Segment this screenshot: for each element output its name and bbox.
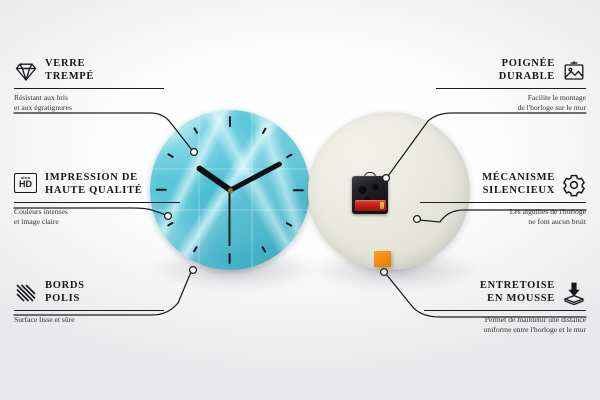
feature-description: Les aiguilles de l'horloge ne font aucun… [418, 207, 586, 226]
feature-title: IMPRESSION DE HAUTE QUALITÉ [45, 172, 143, 197]
feature-poignee-durable: POIGNÉE DURABLE Facilite le montage de l… [434, 58, 586, 112]
product-feature-infographic: VERRE TREMPÉ Résistant aux bris et aux é… [0, 0, 600, 400]
feature-divider [14, 310, 164, 311]
feature-title: ENTRETOISE EN MOUSSE [480, 280, 555, 305]
feature-description: Facilite le montage de l'horloge sur le … [434, 93, 586, 112]
feature-verre-trempe: VERRE TREMPÉ Résistant aux bris et aux é… [14, 58, 166, 112]
feature-description: Surface lisse et sûre [14, 315, 166, 325]
feature-divider [424, 310, 586, 311]
down-arrow-pad-icon [562, 281, 586, 305]
feature-title: MÉCANISME SILENCIEUX [482, 172, 555, 197]
gear-icon [562, 173, 586, 197]
feature-title: VERRE TREMPÉ [45, 58, 94, 83]
clock-center-cap [228, 188, 233, 193]
foam-spacer[interactable] [374, 251, 391, 267]
feature-description: Permet de maintenir une distance uniform… [422, 315, 586, 334]
diagonal-lines-icon [14, 281, 38, 305]
feature-title: BORDS POLIS [45, 280, 85, 305]
feature-divider [14, 202, 180, 203]
feature-divider [420, 202, 586, 203]
ultra-hd-icon-main-text: HD [19, 180, 32, 189]
mechanism-dial-1 [358, 185, 367, 194]
feature-title: POIGNÉE DURABLE [499, 58, 555, 83]
picture-frame-icon [562, 59, 586, 83]
feature-impression-haute-qualite: ultra HD IMPRESSION DE HAUTE QUALITÉ Cou… [14, 172, 182, 226]
feature-description: Couleurs intenses et image claire [14, 207, 182, 226]
feature-divider [436, 88, 586, 89]
feature-mecanisme-silencieux: MÉCANISME SILENCIEUX Les aiguilles de l'… [418, 172, 586, 226]
feature-bords-polis: BORDS POLIS Surface lisse et sûre [14, 280, 166, 325]
feature-entretoise-en-mousse: ENTRETOISE EN MOUSSE Permet de maintenir… [422, 280, 586, 334]
mechanism-battery [355, 200, 386, 211]
mechanism-dial-2 [372, 183, 379, 190]
clock-mechanism[interactable] [352, 176, 388, 214]
mechanism-body [352, 176, 388, 214]
ultra-hd-icon: ultra HD [14, 173, 38, 197]
feature-divider [14, 88, 164, 89]
feature-description: Résistant aux bris et aux égratignures [14, 93, 166, 112]
diamond-icon [14, 59, 38, 83]
